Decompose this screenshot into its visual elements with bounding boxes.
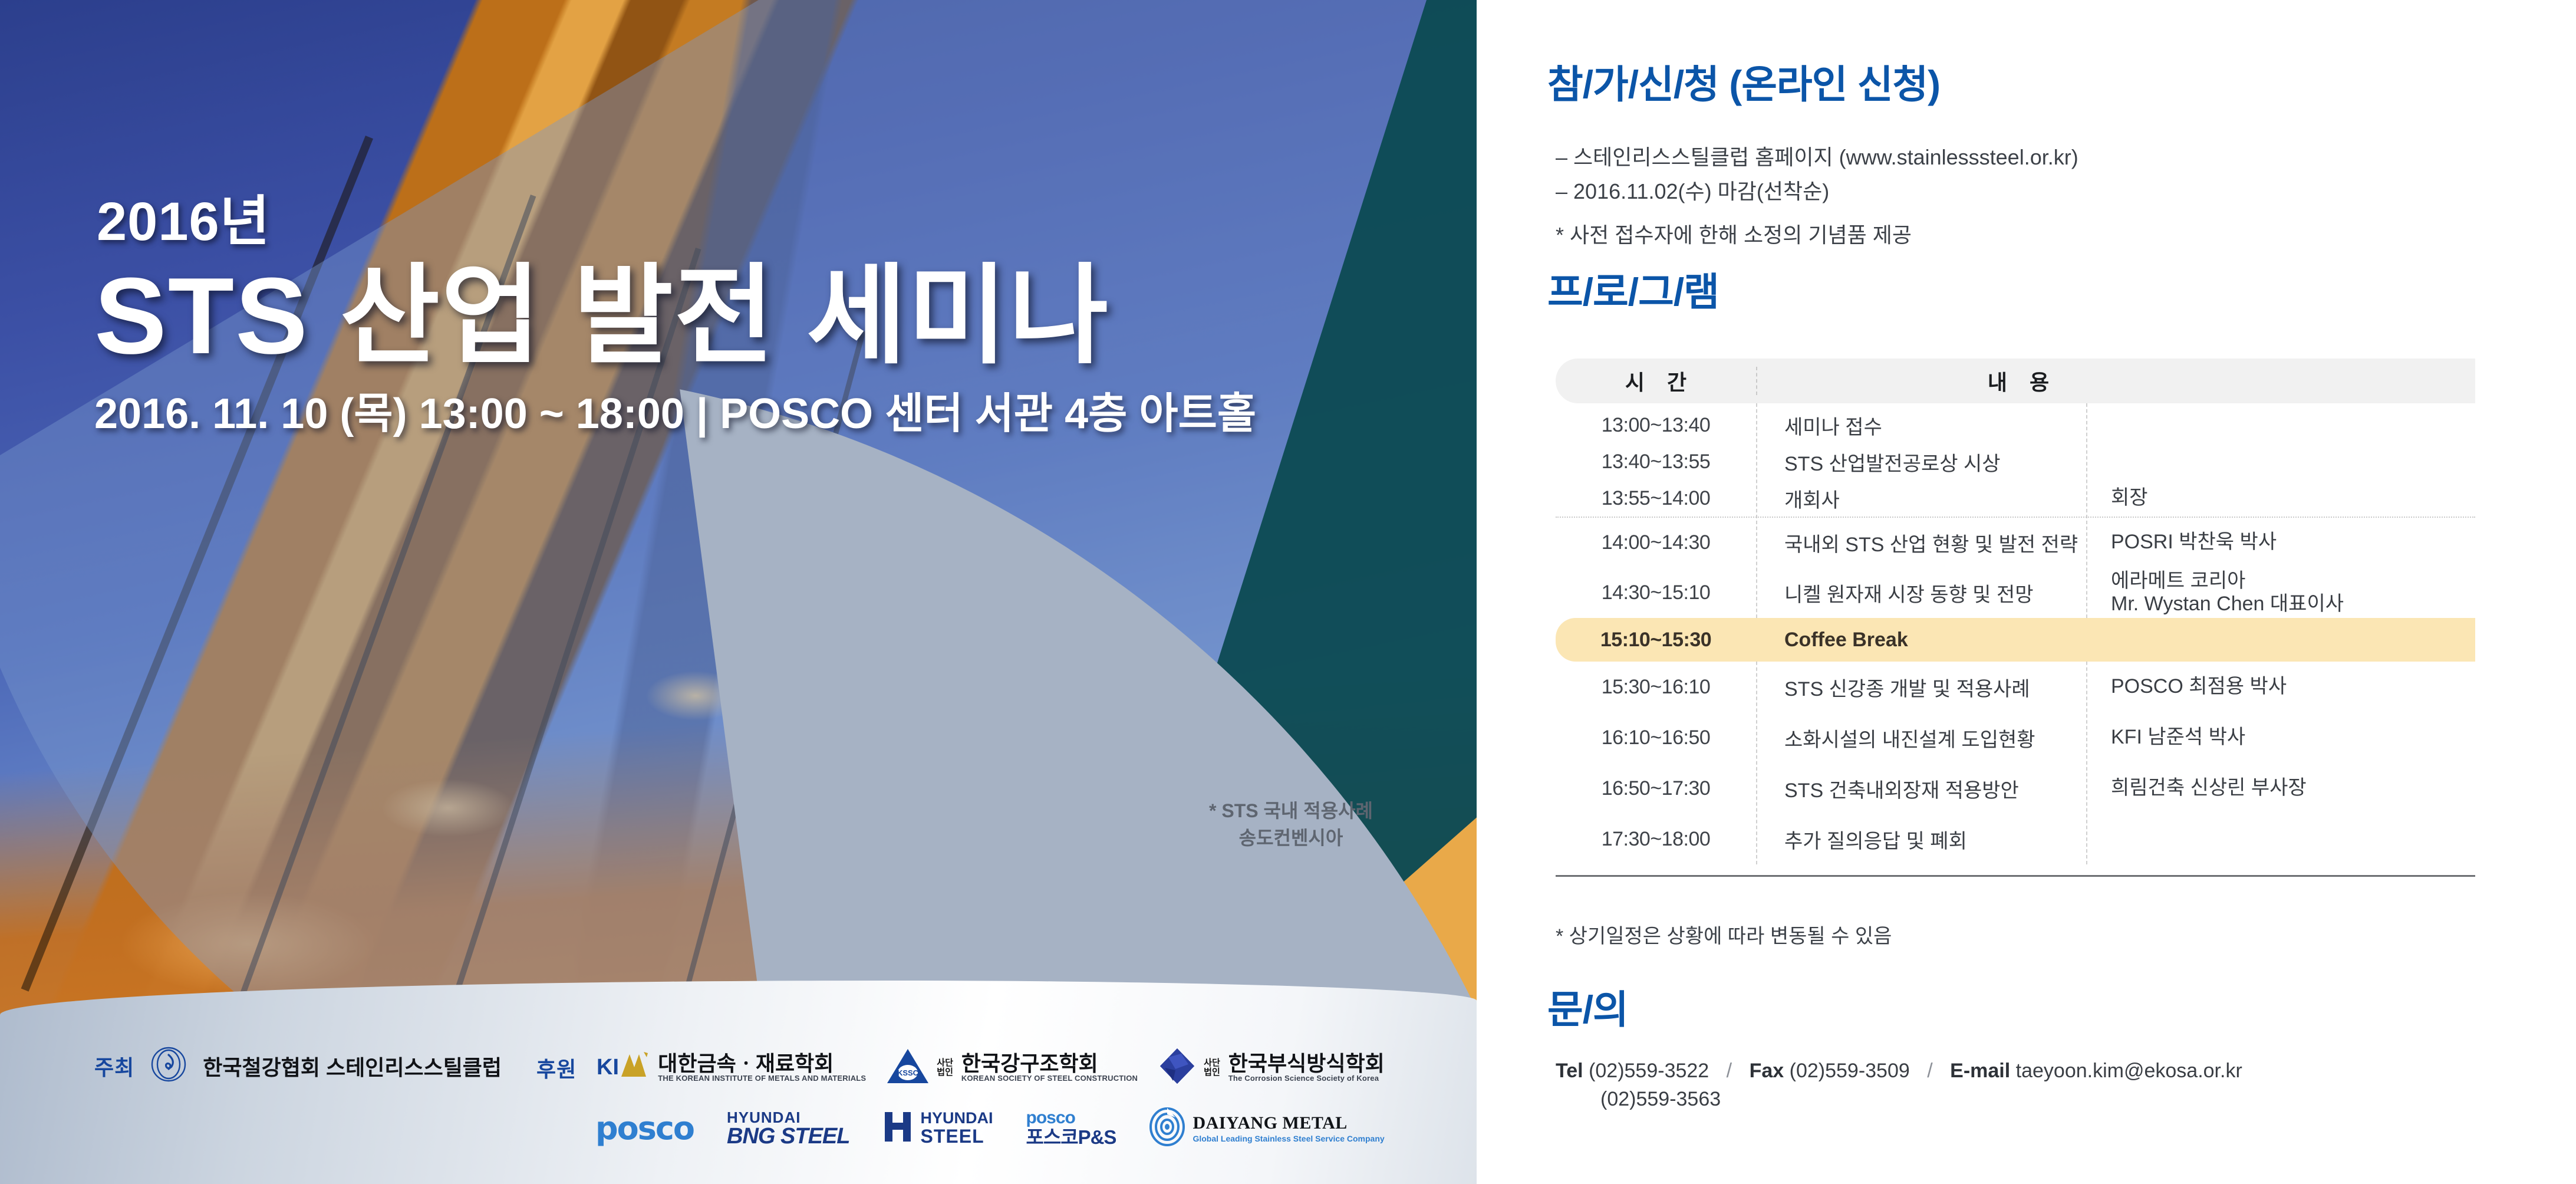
hyundai-bng-steel-logo: HYUNDAI BNG STEEL <box>727 1110 849 1147</box>
steel-text: STEEL <box>920 1127 993 1146</box>
section-heading-apply: 참/가/신/청 (온라인 신청) <box>1547 65 1940 104</box>
cell-time: 14:00~14:30 <box>1556 531 1756 554</box>
sponsor-name-kr: 대한금속ㆍ재료학회 <box>658 1053 866 1075</box>
daiyang-target-icon <box>1149 1107 1185 1149</box>
section-heading-contact: 문/의 <box>1547 990 1628 1029</box>
column-header-content: 내 용 <box>1756 366 2475 396</box>
column-header-time: 시 간 <box>1556 366 1756 396</box>
tel-label: Tel <box>1556 1060 1583 1082</box>
table-row: 17:30~18:00 추가 질의응답 및 폐회 <box>1556 814 2475 864</box>
cell-topic: 세미나 접수 <box>1756 411 2086 440</box>
svg-text:KSSC: KSSC <box>897 1068 919 1077</box>
cell-topic: STS 산업발전공로상 시상 <box>1756 448 2086 476</box>
ksa-seal-icon <box>151 1047 186 1085</box>
fax-value: (02)559-3509 <box>1790 1060 1910 1082</box>
kim-mark-icon: KI <box>597 1048 651 1087</box>
sponsor-label: 후원 <box>536 1053 577 1083</box>
cell-speaker: 희림건축 신상린 부사장 <box>2086 777 2475 800</box>
cell-time: 15:30~16:10 <box>1556 676 1756 699</box>
organizer-label: 주최 <box>94 1051 134 1081</box>
posco-text: posco <box>1026 1109 1116 1127</box>
sponsor-prefix: 사단법인 <box>1204 1058 1220 1077</box>
section-heading-program: 프/로/그/램 <box>1547 272 1719 311</box>
sponsor-logo-kim: KI 대한금속ㆍ재료학회 THE KOREAN INSTITUTE OF MET… <box>597 1048 866 1087</box>
email-value[interactable]: taeyoon.kim@ekosa.or.kr <box>2016 1060 2242 1082</box>
photo-credit-line-1: * STS 국내 적용사례 <box>1209 797 1373 824</box>
cell-speaker: 회장 <box>2086 486 2475 509</box>
apply-item: – 2016.11.02(수) 마감(선착순) <box>1556 175 2078 209</box>
contact-separator: / <box>1715 1060 1744 1082</box>
cell-topic: 니켈 원자재 시장 동향 및 전망 <box>1756 578 2086 607</box>
title-block: 2016년 STS 산업 발전 세미나 2016. 11. 10 (목) 13:… <box>94 195 1391 438</box>
left-visual-panel: 2016년 STS 산업 발전 세미나 2016. 11. 10 (목) 13:… <box>0 0 1477 1184</box>
cell-time: 14:30~15:10 <box>1556 581 1756 604</box>
contact-separator: / <box>1915 1060 1944 1082</box>
bng-hyundai-text: HYUNDAI <box>727 1110 849 1125</box>
table-bottom-rule <box>1556 875 2475 877</box>
cell-topic: 국내외 STS 산업 현황 및 발전 전략 <box>1756 528 2086 557</box>
cell-time: 13:55~14:00 <box>1556 487 1756 510</box>
sponsor-section: 후원 KI 대한금속ㆍ재료학회 THE KOREAN INSTITUTE OF … <box>536 1047 1385 1088</box>
cell-topic: STS 건축내외장재 적용방안 <box>1756 774 2086 803</box>
event-year: 2016년 <box>97 195 1391 249</box>
table-row-coffee-break: 15:10~15:30 Coffee Break <box>1556 618 2475 662</box>
sponsor-prefix: 사단법인 <box>937 1058 953 1077</box>
tel-value: (02)559-3522 <box>1589 1060 1709 1082</box>
cell-topic: 소화시설의 내진설계 도입현황 <box>1756 723 2086 752</box>
cell-topic: STS 신강종 개발 및 적용사례 <box>1756 673 2086 702</box>
kssc-triangle-icon: KSSC <box>886 1048 930 1087</box>
sponsor-logo-cssk: 사단법인 한국부식방식학회 The Corrosion Science Soci… <box>1158 1047 1385 1088</box>
sponsor-name-en: THE KOREAN INSTITUTE OF METALS AND MATER… <box>658 1074 866 1082</box>
seminar-poster: 2016년 STS 산업 발전 세미나 2016. 11. 10 (목) 13:… <box>0 0 2576 1184</box>
corporate-logo-row: posco HYUNDAI BNG STEEL HYUNDAI STEEL po… <box>595 1107 1385 1149</box>
posco-pns-text: 포스코P&S <box>1026 1127 1116 1148</box>
table-body: 13:00~13:40 세미나 접수 13:40~13:55 STS 산업발전공… <box>1556 403 2475 864</box>
photo-credit-line-2: 송도컨벤시아 <box>1209 824 1373 851</box>
fax-label: Fax <box>1750 1060 1784 1082</box>
cell-topic: 개회사 <box>1756 484 2086 513</box>
program-table: 시 간 내 용 13:00~13:40 세미나 접수 13:40~13:55 S… <box>1556 359 2475 877</box>
cell-speaker: 에라메트 코리아 Mr. Wystan Chen 대표이사 <box>2086 570 2475 616</box>
table-row: 13:00~13:40 세미나 접수 <box>1556 407 2475 443</box>
cell-speaker: POSCO 최점용 박사 <box>2086 675 2475 698</box>
sponsor-name-en: KOREAN SOCIETY OF STEEL CONSTRUCTION <box>961 1074 1138 1082</box>
daiyang-name: DAIYANG METAL <box>1193 1113 1384 1134</box>
contact-row-secondary: (02)559-3563 <box>1556 1085 2242 1113</box>
apply-note: * 사전 접수자에 한해 소정의 기념품 제공 <box>1556 218 1912 249</box>
cell-speaker: KFI 남준석 박사 <box>2086 726 2475 749</box>
organizer-name: 한국철강협회 스테인리스스틸클럽 <box>203 1051 502 1081</box>
cell-time: 13:40~13:55 <box>1556 450 1756 473</box>
cell-speaker: POSRI 박찬욱 박사 <box>2086 531 2475 554</box>
posco-pns-logo: posco 포스코P&S <box>1026 1109 1116 1147</box>
email-label: E-mail <box>1950 1060 2010 1082</box>
hyundai-h-icon <box>882 1110 913 1147</box>
sponsor-name-kr: 한국강구조학회 <box>961 1053 1138 1075</box>
table-row: 16:10~16:50 소화시설의 내진설계 도입현황 KFI 남준석 박사 <box>1556 712 2475 763</box>
cell-time: 13:00~13:40 <box>1556 414 1756 437</box>
contact-block: Tel (02)559-3522 / Fax (02)559-3509 / E-… <box>1556 1057 2242 1114</box>
sponsor-name-kr: 한국부식방식학회 <box>1228 1053 1385 1075</box>
cssk-diamond-icon <box>1158 1047 1197 1088</box>
posco-logo: posco <box>595 1110 694 1147</box>
svg-text:KI: KI <box>597 1055 619 1080</box>
program-note: * 상기일정은 상황에 따라 변동될 수 있음 <box>1556 920 1892 949</box>
cell-time: 15:10~15:30 <box>1556 629 1756 652</box>
cell-topic: Coffee Break <box>1756 629 2086 652</box>
cell-time: 16:50~17:30 <box>1556 777 1756 800</box>
daiyang-tagline: Global Leading Stainless Steel Service C… <box>1193 1134 1384 1143</box>
cell-time: 17:30~18:00 <box>1556 828 1756 851</box>
contact-row-primary: Tel (02)559-3522 / Fax (02)559-3509 / E-… <box>1556 1057 2242 1085</box>
cell-time: 16:10~16:50 <box>1556 726 1756 749</box>
table-row: 14:00~14:30 국내외 STS 산업 현황 및 발전 전략 POSRI … <box>1556 517 2475 567</box>
hyundai-text: HYUNDAI <box>920 1110 993 1127</box>
bng-steel-text: BNG STEEL <box>727 1125 849 1147</box>
table-row: 16:50~17:30 STS 건축내외장재 적용방안 희림건축 신상린 부사장 <box>1556 763 2475 814</box>
event-datetime-venue: 2016. 11. 10 (목) 13:00 ~ 18:00 | POSCO 센… <box>94 391 1391 438</box>
table-row: 15:30~16:10 STS 신강종 개발 및 적용사례 POSCO 최점용 … <box>1556 662 2475 712</box>
cell-topic: 추가 질의응답 및 폐회 <box>1756 825 2086 854</box>
photo-credit: * STS 국내 적용사례 송도컨벤시아 <box>1209 797 1373 852</box>
table-row: 13:40~13:55 STS 산업발전공로상 시상 <box>1556 443 2475 480</box>
apply-list: – 스테인리스스틸클럽 홈페이지 (www.stainlesssteel.or.… <box>1556 140 2078 209</box>
hyundai-steel-logo: HYUNDAI STEEL <box>882 1110 993 1147</box>
daiyang-metal-logo: DAIYANG METAL Global Leading Stainless S… <box>1149 1107 1384 1149</box>
table-row: 13:55~14:00 개회사 회장 <box>1556 480 2475 517</box>
right-info-panel: 참/가/신/청 (온라인 신청) – 스테인리스스틸클럽 홈페이지 (www.s… <box>1477 0 2576 1184</box>
table-header-row: 시 간 내 용 <box>1556 359 2475 403</box>
page-title: STS 산업 발전 세미나 <box>94 259 1391 372</box>
organizer-section: 주최 한국철강협회 스테인리스스틸클럽 <box>94 1047 502 1085</box>
sponsor-logo-kssc: KSSC 사단법인 한국강구조학회 KOREAN SOCIETY OF STEE… <box>886 1048 1138 1087</box>
table-row: 14:30~15:10 니켈 원자재 시장 동향 및 전망 에라메트 코리아 M… <box>1556 567 2475 618</box>
apply-item: – 스테인리스스틸클럽 홈페이지 (www.stainlesssteel.or.… <box>1556 140 2078 175</box>
sponsor-name-en: The Corrosion Science Society of Korea <box>1228 1074 1385 1082</box>
